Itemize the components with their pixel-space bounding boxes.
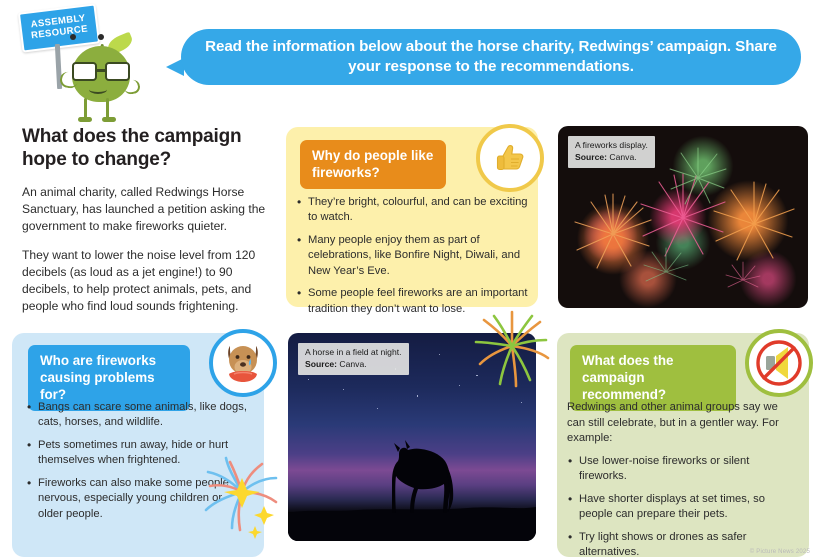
- card-body-blue: Bangs can scare some animals, like dogs,…: [26, 400, 248, 529]
- list-item: Some people feel fireworks are an import…: [296, 286, 532, 317]
- card-body-yellow: They’re bright, colourful, and can be ex…: [296, 195, 532, 324]
- copyright-notice: © Picture News 2025: [750, 549, 810, 555]
- list-item: Have shorter displays at set times, so p…: [567, 492, 783, 523]
- foot-right: [102, 117, 116, 122]
- list-item: Fireworks can also make some people nerv…: [26, 476, 248, 522]
- card-intro-green: Redwings and other animal groups say we …: [567, 400, 783, 447]
- apple-mascot: [58, 28, 150, 123]
- caption-source-label: Source:: [575, 152, 607, 162]
- intro-paragraph-1: An animal charity, called Redwings Horse…: [22, 184, 277, 236]
- pupil-left: [70, 34, 76, 40]
- list-item: Bangs can scare some animals, like dogs,…: [26, 400, 248, 431]
- photo-caption-fireworks: A fireworks display. Source: Canva.: [568, 136, 655, 168]
- glasses-icon: [72, 62, 132, 82]
- caption-source-value: Canva.: [339, 359, 366, 369]
- poster-canvas: ASSEMBLY RESOURCE Read the information b…: [0, 0, 818, 557]
- arm-right: [123, 79, 141, 96]
- card-heading-yellow: Why do people like fireworks?: [300, 140, 446, 189]
- bullet-list-yellow: They’re bright, colourful, and can be ex…: [296, 195, 532, 317]
- smile-icon: [89, 85, 107, 94]
- page-title: What does the campaign hope to change?: [22, 125, 277, 171]
- instruction-text: Read the information below about the hor…: [203, 37, 779, 77]
- no-sound-icon: [745, 329, 813, 397]
- glasses-bridge: [97, 69, 105, 72]
- thumbs-up-icon: [476, 124, 544, 192]
- list-item: Many people enjoy them as part of celebr…: [296, 233, 532, 279]
- caption-source-value: Canva.: [609, 152, 636, 162]
- bullet-list-blue: Bangs can scare some animals, like dogs,…: [26, 400, 248, 522]
- list-item: Use lower-noise fireworks or silent fire…: [567, 454, 783, 485]
- photo-fireworks-display: A fireworks display. Source: Canva.: [558, 126, 808, 308]
- pupil-right: [98, 34, 104, 40]
- list-item: They’re bright, colourful, and can be ex…: [296, 195, 532, 226]
- foot-left: [78, 117, 92, 122]
- crying-dog-icon: [209, 329, 277, 397]
- caption-text: A fireworks display.: [575, 140, 648, 150]
- bullet-list-green: Use lower-noise fireworks or silent fire…: [567, 454, 783, 557]
- caption-source-label: Source:: [305, 359, 337, 369]
- photo-horse-at-night: A horse in a field at night. Source: Can…: [288, 333, 536, 541]
- list-item: Pets sometimes run away, hide or hurt th…: [26, 438, 248, 469]
- intro-body: An animal charity, called Redwings Horse…: [22, 184, 277, 326]
- card-body-green: Redwings and other animal groups say we …: [567, 400, 783, 557]
- caption-text: A horse in a field at night.: [305, 347, 402, 357]
- instruction-banner: Read the information below about the hor…: [181, 29, 801, 85]
- intro-paragraph-2: They want to lower the noise level from …: [22, 247, 277, 316]
- photo-caption-horse: A horse in a field at night. Source: Can…: [298, 343, 409, 375]
- lens-right: [105, 62, 130, 81]
